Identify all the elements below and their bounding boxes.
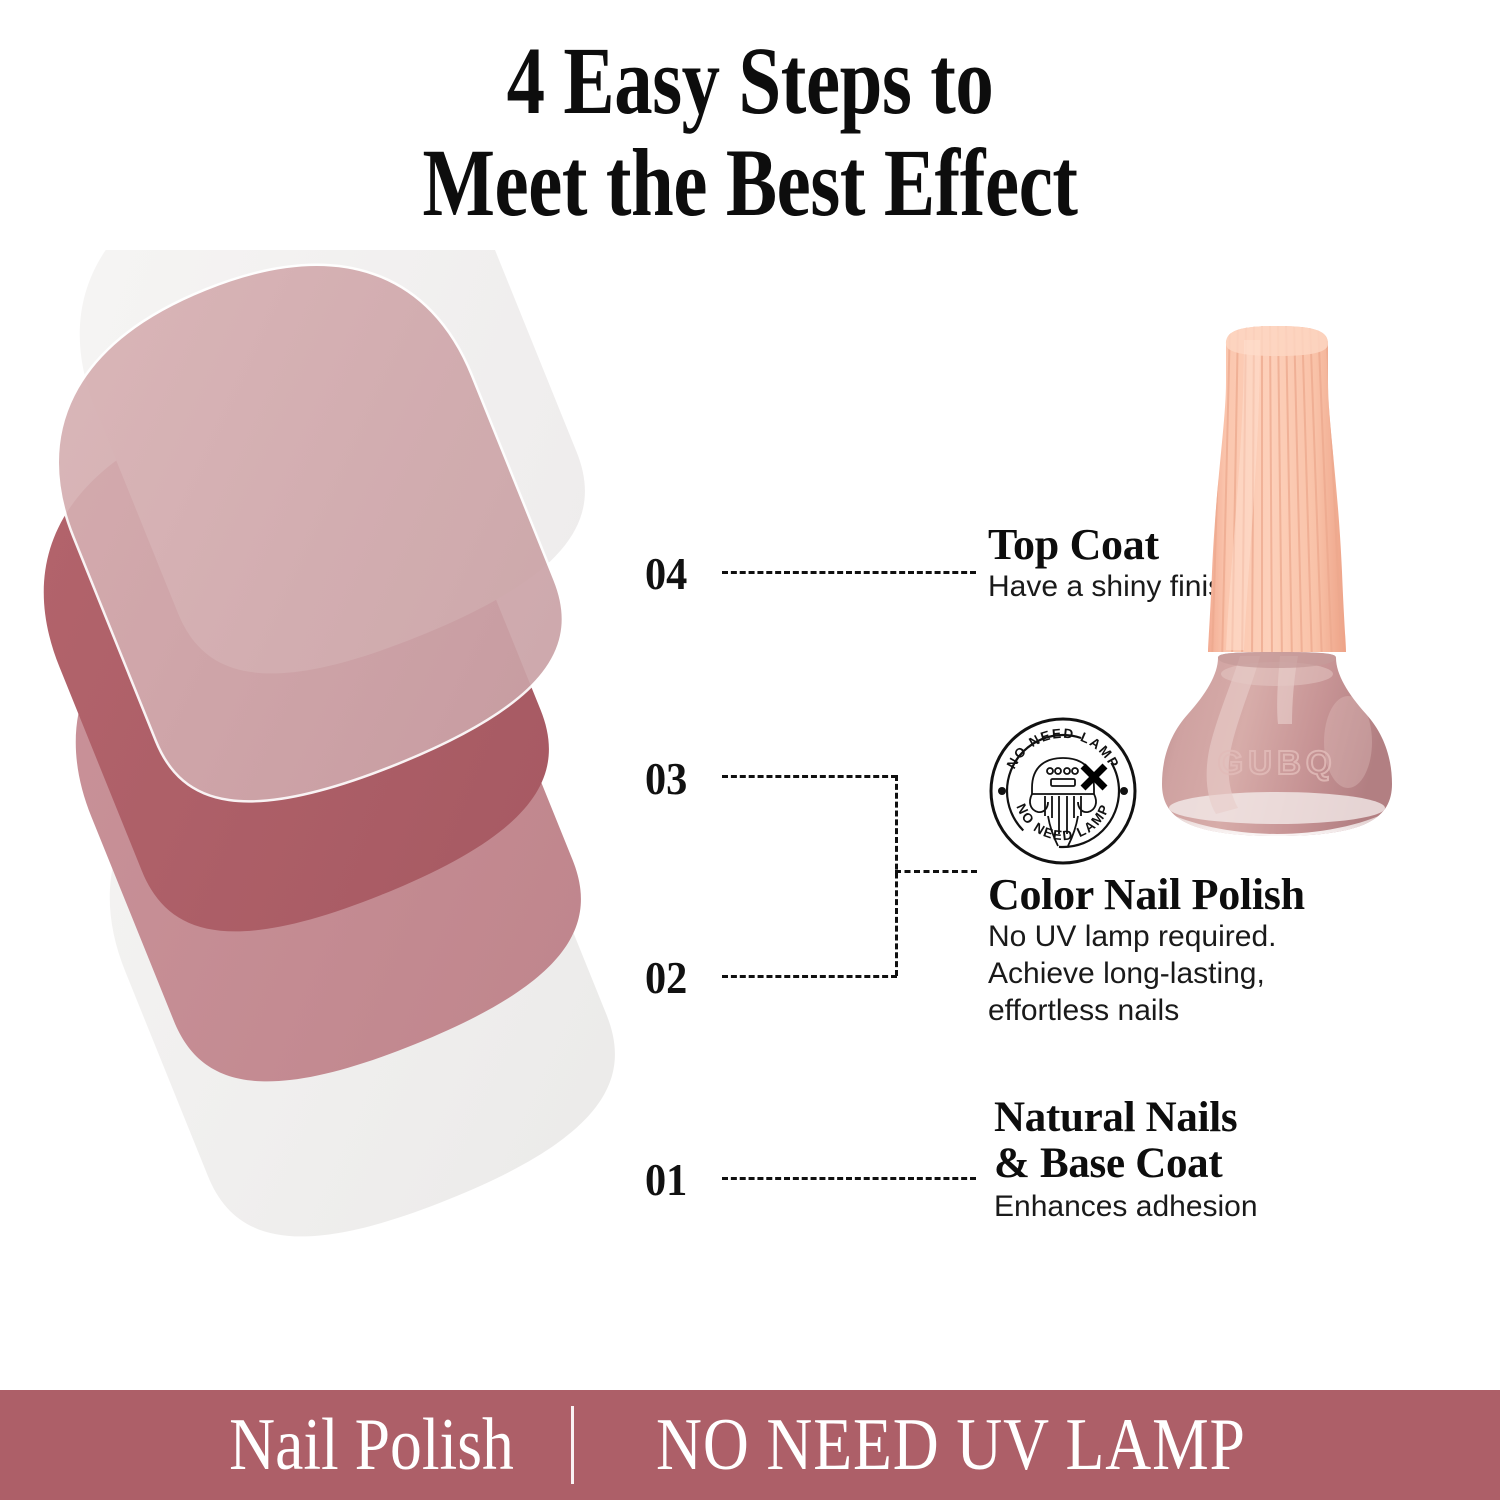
step-number-03: 03 [645, 752, 687, 805]
footer-right-text: NO NEED UV LAMP [656, 1408, 1246, 1482]
callout-color-line-3: effortless nails [988, 994, 1305, 1029]
callout-natural-heading-line-2: & Base Coat [994, 1141, 1258, 1187]
page-title-line-1: 4 Easy Steps to [150, 30, 1350, 132]
page-title: 4 Easy Steps to Meet the Best Effect [150, 30, 1350, 234]
callout-color-heading: Color Nail Polish [988, 872, 1305, 918]
connector-bracket-vertical [895, 775, 898, 976]
no-need-lamp-badge-icon: NO NEED LAMP NO NEED LAMP [988, 716, 1138, 866]
callout-natural-line-1: Enhances adhesion [994, 1190, 1258, 1225]
bottle-body: GUBQ [1152, 652, 1402, 862]
connector-line-01 [722, 1177, 976, 1180]
step-number-02: 02 [645, 951, 687, 1004]
connector-line-02 [722, 975, 897, 978]
step-number-01: 01 [645, 1153, 687, 1206]
step-number-04: 04 [645, 547, 687, 600]
nail-polish-bottle-image: GUBQ [1152, 322, 1402, 862]
callout-color-line-1: No UV lamp required. [988, 920, 1305, 955]
footer-divider [571, 1406, 574, 1484]
footer-left-text: Nail Polish [229, 1408, 514, 1482]
callout-color-line-2: Achieve long-lasting, [988, 957, 1305, 992]
connector-bracket-stub [895, 870, 977, 873]
bottle-brand-emboss: GUBQ [1218, 744, 1337, 781]
connector-line-03 [722, 775, 897, 778]
callout-natural-heading-line-1: Natural Nails [994, 1095, 1258, 1141]
nail-layer-stack [0, 250, 900, 1310]
callout-color-nail-polish: Color Nail Polish No UV lamp required. A… [988, 872, 1305, 1029]
bottle-cap [1202, 322, 1346, 662]
connector-line-04 [722, 571, 976, 574]
page-title-line-2: Meet the Best Effect [150, 132, 1350, 234]
footer-banner: Nail Polish NO NEED UV LAMP [0, 1390, 1500, 1500]
callout-natural-nails: Natural Nails & Base Coat Enhances adhes… [994, 1095, 1258, 1225]
